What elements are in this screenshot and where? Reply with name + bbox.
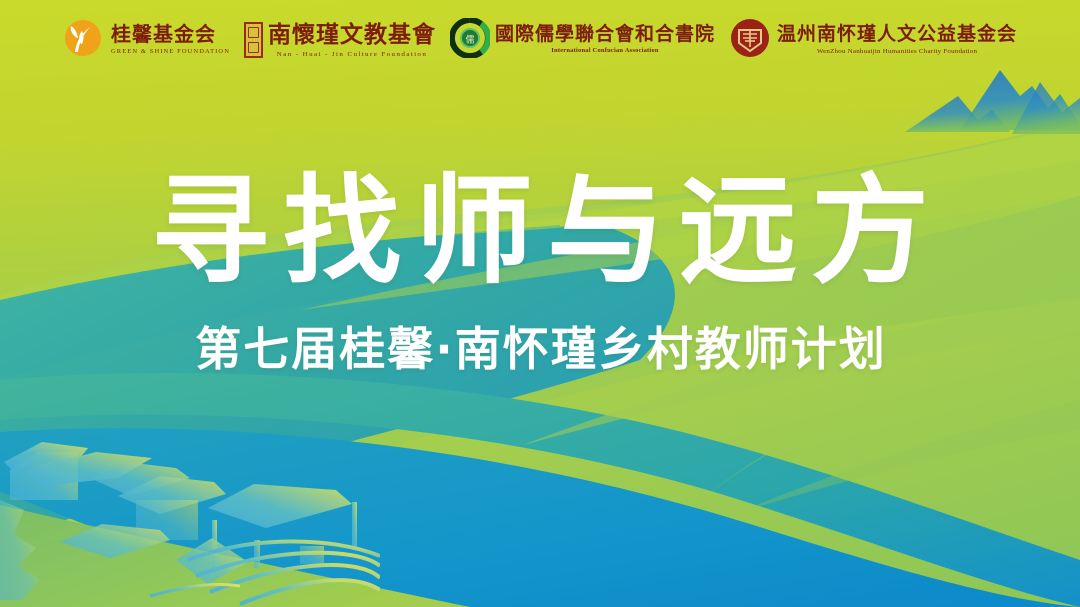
background-artwork xyxy=(0,0,1080,607)
sponsor-logo-bar: 桂馨基金会 GREEN & SHINE FOUNDATION 南懷瑾文教基會 N… xyxy=(0,14,1080,66)
logo-en-green-shine: GREEN & SHINE FOUNDATION xyxy=(111,49,230,55)
logo-en-confucian-association: International Confucian Association xyxy=(495,48,715,54)
poster-subtitle: 第七届桂馨·南怀瑾乡村教师计划 xyxy=(0,313,1080,379)
logo-cn-confucian-association: 國際儒學聯合會和合書院 xyxy=(495,25,715,44)
logo-unit-green-shine: 桂馨基金会 GREEN & SHINE FOUNDATION xyxy=(63,18,230,63)
logo-en-nanhuaijin-culture: Nan - Huai - Jin Culture Foundation xyxy=(268,51,436,58)
wenzhou-round-seal-logo-icon xyxy=(729,17,771,64)
svg-text:儒: 儒 xyxy=(465,33,474,44)
logo-en-wenzhou-charity: WenZhou Nanhuaijin Humanities Charity Fo… xyxy=(777,48,1017,55)
logo-cn-nanhuaijin-culture: 南懷瑾文教基會 xyxy=(268,23,436,46)
red-seal-stamp-icon xyxy=(244,22,263,58)
logo-unit-nanhuaijin-culture: 南懷瑾文教基會 Nan - Huai - Jin Culture Foundat… xyxy=(244,22,436,58)
poster-headline: 寻找师与远方 xyxy=(0,172,1080,290)
poster-canvas: 桂馨基金会 GREEN & SHINE FOUNDATION 南懷瑾文教基會 N… xyxy=(0,0,1080,607)
logo-unit-confucian-association: 儒 國際儒學聯合會和合書院 International Confucian As… xyxy=(450,18,715,63)
logo-cn-green-shine: 桂馨基金会 xyxy=(111,25,230,45)
logo-unit-wenzhou-charity: 温州南怀瑾人文公益基金会 WenZhou Nanhuaijin Humaniti… xyxy=(729,17,1017,64)
logo-cn-wenzhou-charity: 温州南怀瑾人文公益基金会 xyxy=(777,25,1017,44)
confucian-circle-logo-icon: 儒 xyxy=(450,18,490,63)
gui-xin-circle-leaf-logo-icon xyxy=(63,18,103,63)
